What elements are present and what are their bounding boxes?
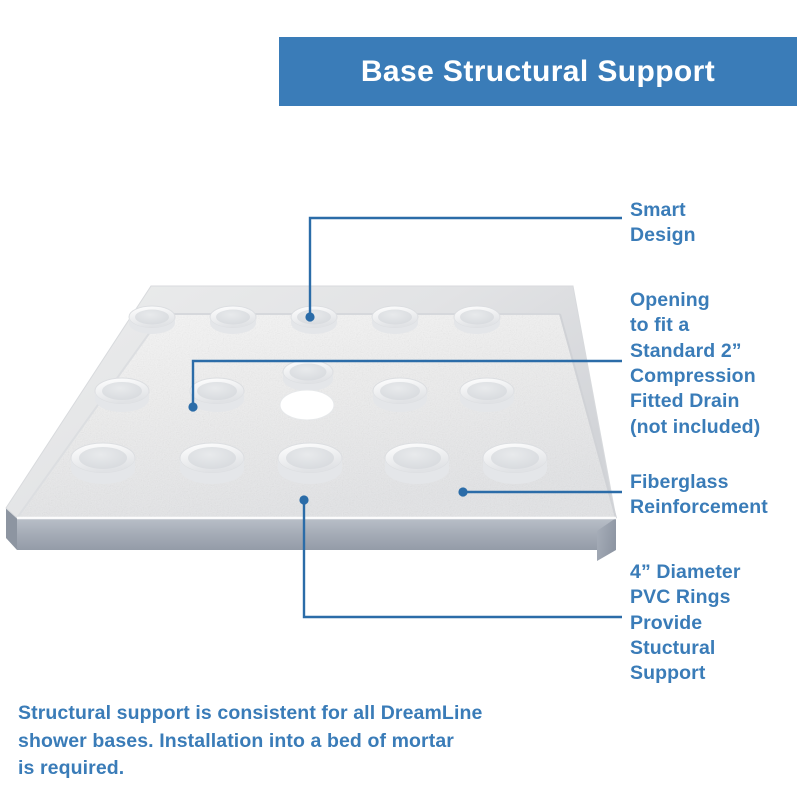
pvc-ring	[460, 378, 514, 412]
infographic-canvas: Base Structural Support	[0, 0, 806, 806]
callout-line: Fiberglass	[630, 470, 768, 495]
callout-pvc-rings: 4” Diameter PVC Rings Provide Stuctural …	[630, 560, 741, 687]
callout-line: Smart	[630, 198, 696, 223]
drain-opening	[280, 390, 334, 420]
callout-line: Design	[630, 223, 696, 248]
callout-opening-drain: Opening to fit a Standard 2” Compression…	[630, 288, 760, 440]
pvc-ring	[385, 443, 449, 484]
pvc-ring	[483, 443, 547, 484]
pvc-ring	[278, 443, 342, 484]
callout-line: Compression	[630, 364, 760, 389]
callout-line: Opening	[630, 288, 760, 313]
page-title: Base Structural Support	[361, 55, 715, 89]
callout-line: (not included)	[630, 415, 760, 440]
callout-line: Provide	[630, 611, 741, 636]
pvc-ring	[454, 306, 500, 334]
callout-line: Stuctural	[630, 636, 741, 661]
pvc-ring	[373, 378, 427, 412]
footer-note: Structural support is consistent for all…	[18, 700, 538, 783]
callout-line: Fitted Drain	[630, 389, 760, 414]
header-banner: Base Structural Support	[279, 37, 797, 106]
callout-line: to fit a	[630, 313, 760, 338]
pvc-ring	[151, 569, 153, 571]
footer-line: shower bases. Installation into a bed of…	[18, 728, 538, 756]
callout-line: 4” Diameter	[630, 560, 741, 585]
callout-line: Standard 2”	[630, 339, 760, 364]
pvc-ring	[190, 378, 244, 412]
callout-line: PVC Rings	[630, 585, 741, 610]
pvc-ring	[291, 306, 337, 334]
callout-smart-design: Smart Design	[630, 198, 696, 249]
product-illustration	[0, 250, 620, 600]
callout-fiberglass: Fiberglass Reinforcement	[630, 470, 768, 521]
pvc-ring	[95, 378, 149, 412]
footer-line: is required.	[18, 755, 538, 783]
pvc-ring	[210, 306, 256, 334]
callout-line: Support	[630, 661, 741, 686]
pvc-ring	[129, 306, 175, 334]
pvc-ring	[372, 306, 418, 334]
pvc-ring	[283, 360, 333, 391]
footer-line: Structural support is consistent for all…	[18, 700, 538, 728]
pvc-ring	[180, 443, 244, 484]
callout-line: Reinforcement	[630, 495, 768, 520]
pvc-ring	[71, 443, 135, 484]
